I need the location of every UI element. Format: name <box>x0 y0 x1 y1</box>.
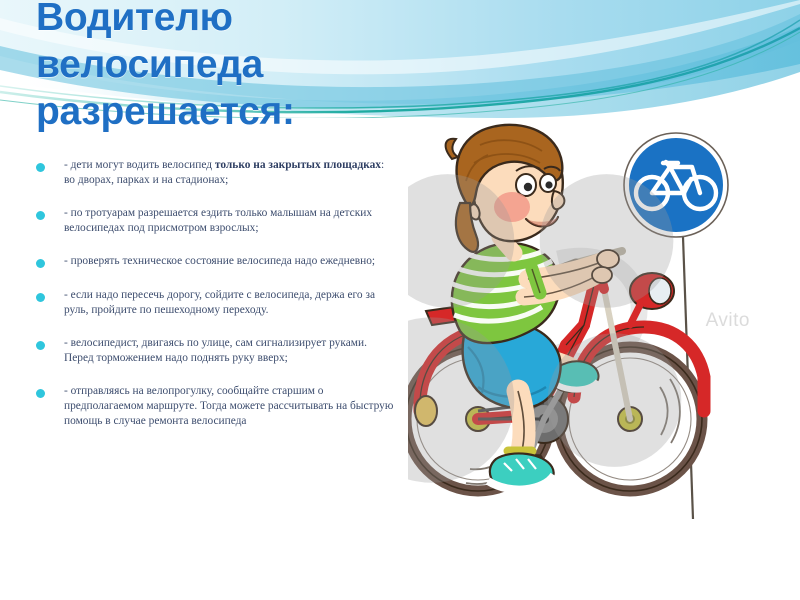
bullet-dot-icon <box>36 211 45 220</box>
list-item: - проверять техническое состояние велоси… <box>36 254 396 269</box>
list-item: - отправляясь на велопрогулку, сообщайте… <box>36 384 396 428</box>
spacer <box>36 241 396 254</box>
list-item-text: - по тротуарам разрешается ездить только… <box>64 206 396 235</box>
bullet-dot-icon <box>36 389 45 398</box>
spacer <box>36 193 396 206</box>
bullet-dot-icon <box>36 341 45 350</box>
spacer <box>36 371 396 384</box>
page-title: Водителю велосипеда разрешается: <box>36 0 466 135</box>
shoe-front <box>488 453 554 491</box>
list-item-text: - велосипедист, двигаясь по улице, сам с… <box>64 336 396 365</box>
list-item-text: - дети могут водить велосипед только на … <box>64 158 396 187</box>
spacer <box>36 323 396 336</box>
list-item-text: - если надо пересечь дорогу, сойдите с в… <box>64 288 396 317</box>
list-item: - если надо пересечь дорогу, сойдите с в… <box>36 288 396 317</box>
bullet-dot-icon <box>36 293 45 302</box>
permission-bullet-list: - дети могут водить велосипед только на … <box>36 158 396 434</box>
bullet-dot-icon <box>36 259 45 268</box>
list-item: - по тротуарам разрешается ездить только… <box>36 206 396 235</box>
list-item-text: - проверять техническое состояние велоси… <box>64 254 396 269</box>
list-item: - дети могут водить велосипед только на … <box>36 158 396 187</box>
bullet-dot-icon <box>36 163 45 172</box>
spacer <box>36 275 396 288</box>
list-item: - велосипедист, двигаясь по улице, сам с… <box>36 336 396 365</box>
list-item-text: - отправляясь на велопрогулку, сообщайте… <box>64 384 396 428</box>
boy-riding-bicycle-illustration: .ol{stroke:#3a2a1c;stroke-width:2.2;stro… <box>408 119 758 534</box>
